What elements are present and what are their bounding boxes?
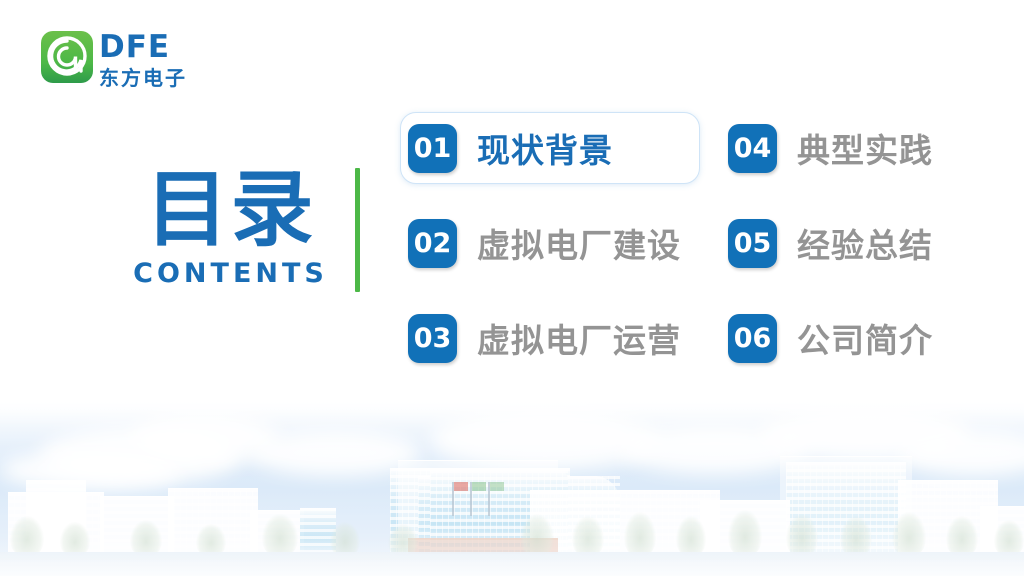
- contents-item-03[interactable]: 03 虚拟电厂运营: [408, 306, 693, 370]
- dfe-green-spiral-logo-icon: [41, 31, 93, 83]
- contents-item-02[interactable]: 02 虚拟电厂建设: [408, 211, 693, 275]
- contents-item-05-badge: 05: [728, 219, 777, 268]
- company-logo: DFE 东方电子: [41, 31, 211, 93]
- page-title: 目录 CONTENTS: [128, 164, 333, 289]
- contents-item-03-badge: 03: [408, 314, 457, 363]
- contents-item-02-label: 虚拟电厂建设: [477, 219, 681, 267]
- photo-buildings: [0, 446, 1024, 576]
- corporate-campus-photo: [0, 400, 1024, 576]
- contents-item-06-badge: 06: [728, 314, 777, 363]
- contents-item-06-label: 公司简介: [797, 314, 933, 362]
- contents-item-03-label: 虚拟电厂运营: [477, 314, 681, 362]
- contents-item-06[interactable]: 06 公司简介: [728, 306, 1013, 370]
- contents-item-05-label: 经验总结: [797, 219, 933, 267]
- slide-root: DFE 东方电子 目录 CONTENTS 01 现状背景 02 虚拟电厂建设 0…: [0, 0, 1024, 576]
- contents-item-04-badge: 04: [728, 124, 777, 173]
- contents-item-05[interactable]: 05 经验总结: [728, 211, 1013, 275]
- contents-item-01[interactable]: 01 现状背景: [408, 116, 693, 180]
- contents-column-left: 01 现状背景 02 虚拟电厂建设 03 虚拟电厂运营: [408, 110, 693, 375]
- contents-menu: 01 现状背景 02 虚拟电厂建设 03 虚拟电厂运营 04 典型实践 05 经…: [408, 110, 988, 375]
- page-title-english: CONTENTS: [128, 258, 333, 289]
- logo-chinese-text: 东方电子: [99, 66, 187, 90]
- contents-item-01-badge: 01: [408, 124, 457, 173]
- contents-item-04[interactable]: 04 典型实践: [728, 116, 1013, 180]
- contents-item-04-label: 典型实践: [797, 124, 933, 172]
- page-title-chinese: 目录: [128, 164, 333, 256]
- title-divider: [355, 168, 360, 292]
- contents-column-right: 04 典型实践 05 经验总结 06 公司简介: [728, 110, 1013, 375]
- logo-wordmark: DFE 东方电子: [99, 32, 187, 90]
- logo-latin-text: DFE: [99, 32, 187, 63]
- contents-item-01-label: 现状背景: [477, 124, 613, 172]
- contents-item-02-badge: 02: [408, 219, 457, 268]
